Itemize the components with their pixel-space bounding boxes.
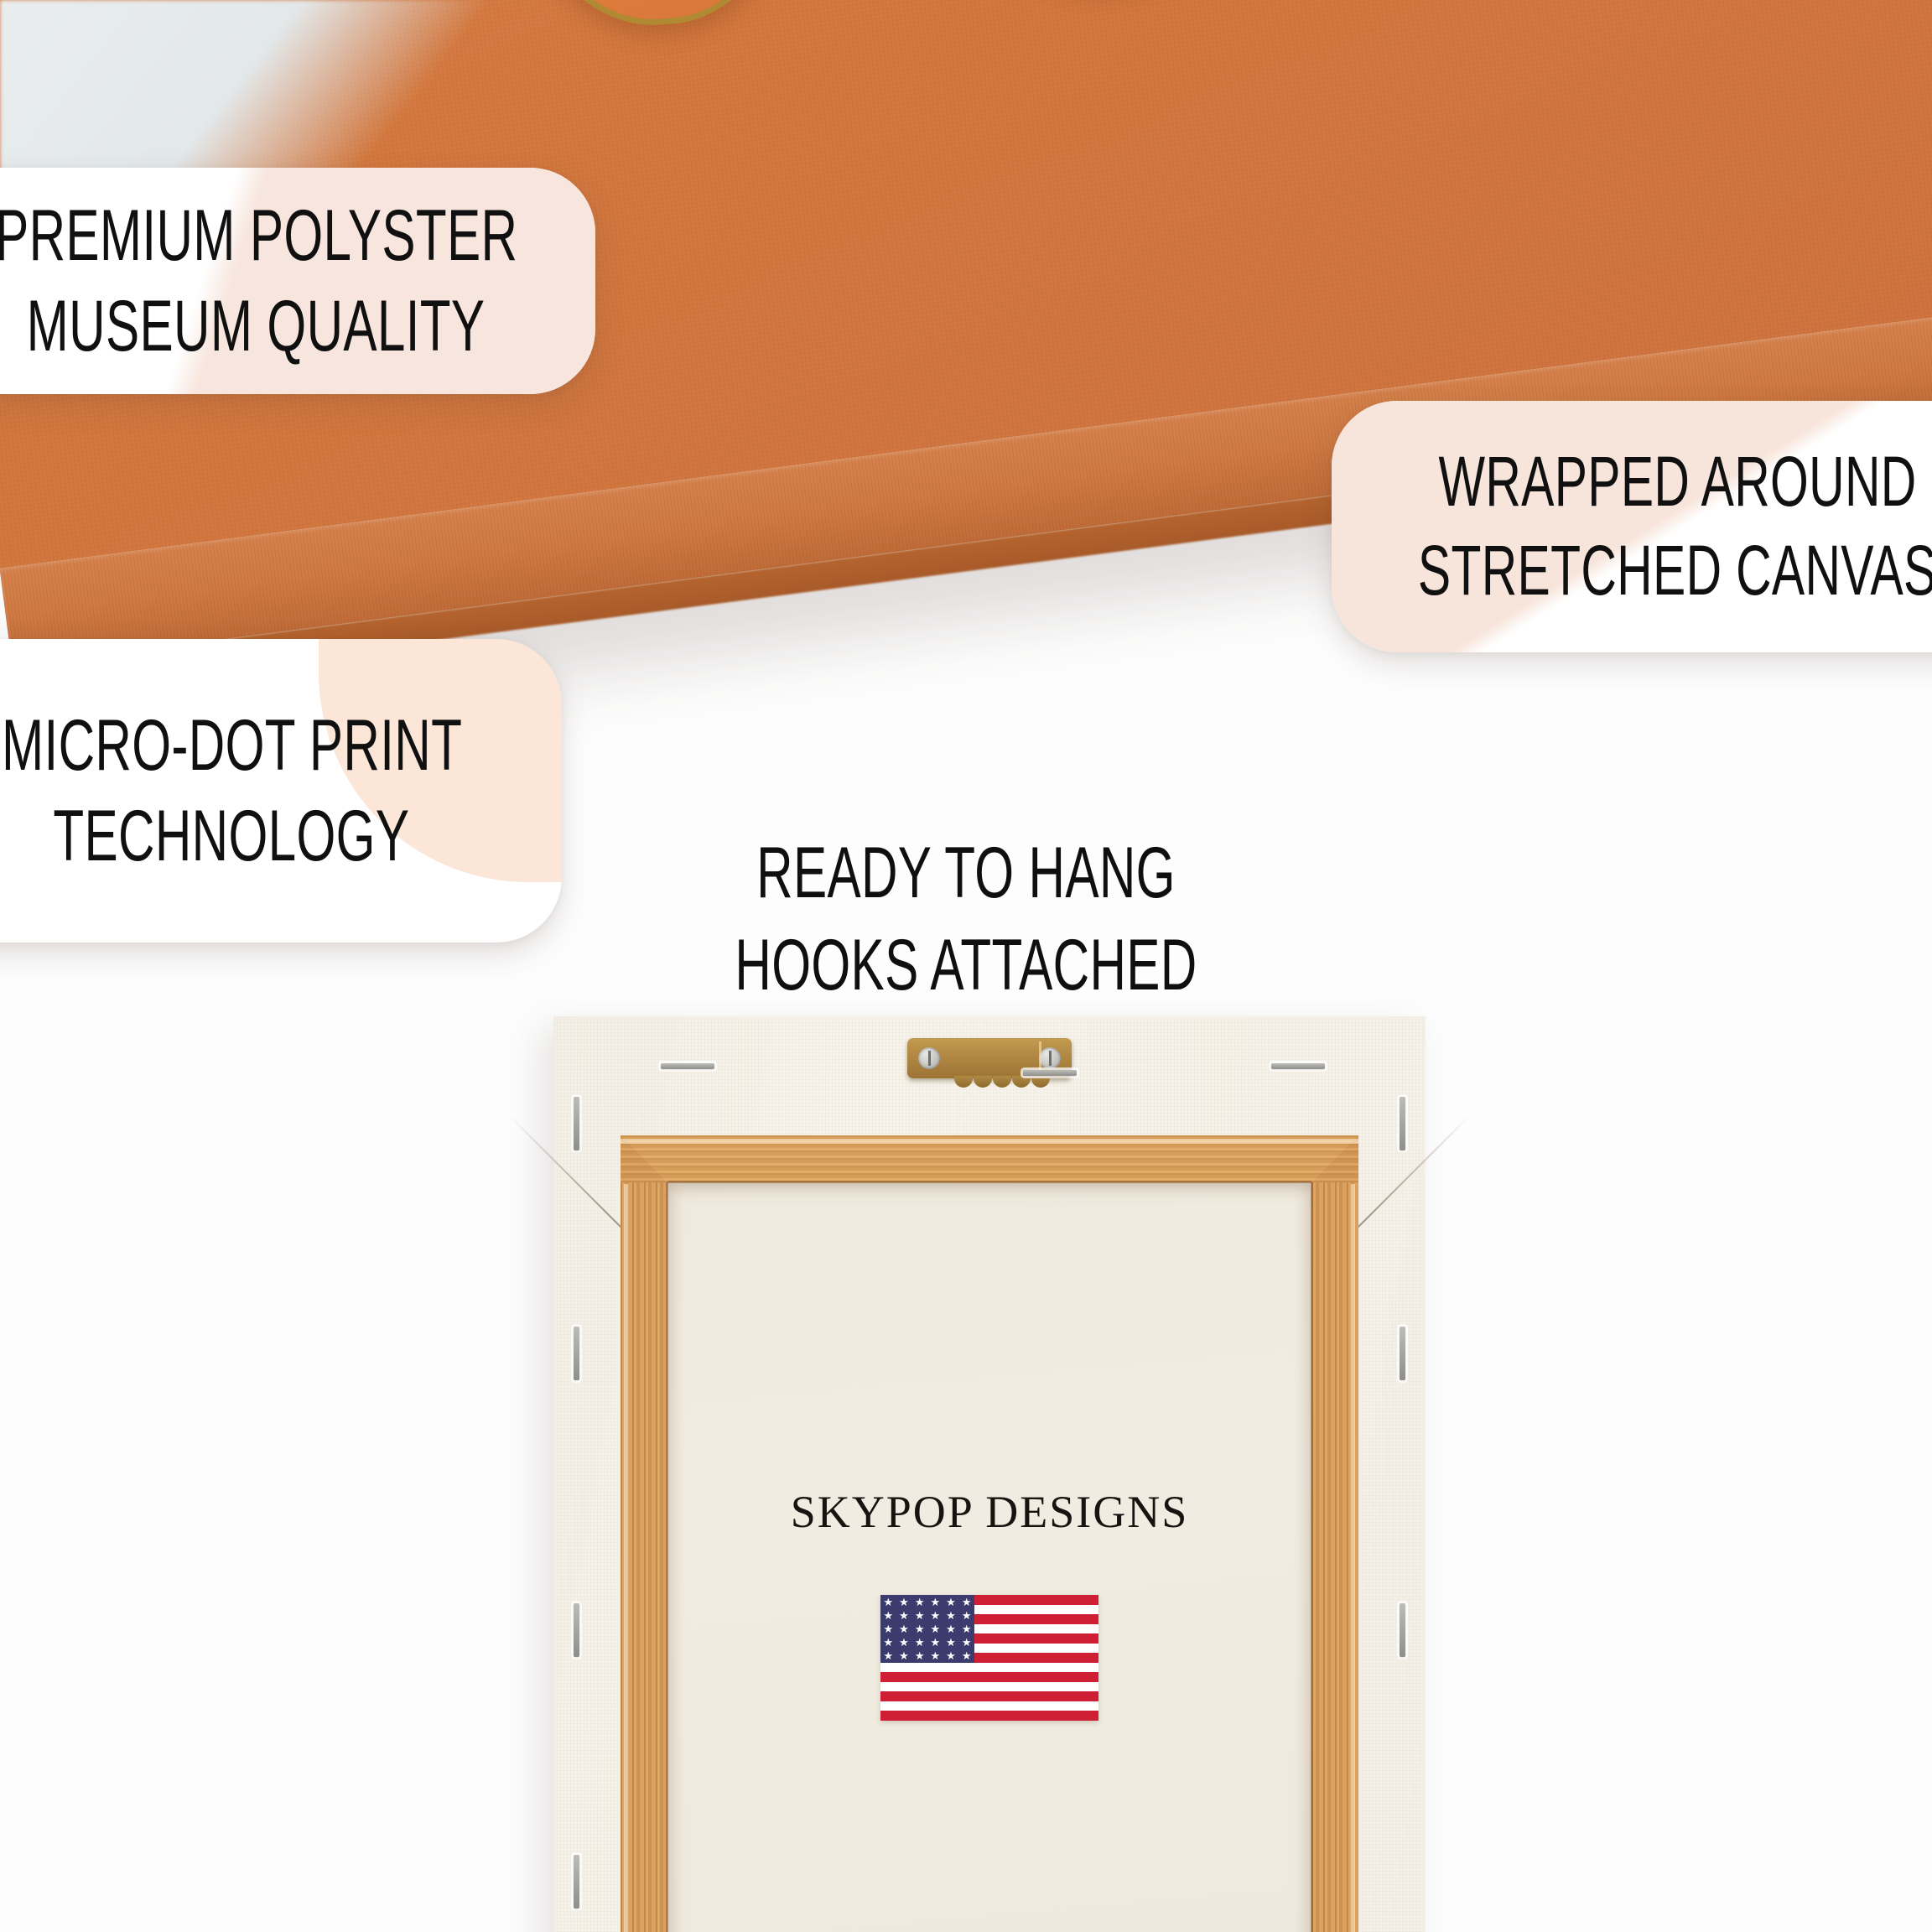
hanger-tooth-row [954, 1076, 1050, 1088]
flag-star: ★ [930, 1610, 940, 1621]
flag-star: ★ [884, 1610, 894, 1621]
flag-star: ★ [962, 1623, 972, 1634]
staple [574, 1327, 579, 1380]
badge-wrapped-line2: STRETCHED CANVAS [1418, 527, 1932, 615]
frame-inner-edge [666, 1182, 668, 1932]
flag-stripe [880, 1691, 1098, 1701]
flag-star: ★ [915, 1650, 925, 1661]
staple [574, 1097, 579, 1150]
flag-stripe [880, 1672, 1098, 1682]
flag-star: ★ [946, 1610, 956, 1621]
canvas-back-photo: SKYPOP DESIGNS ★★★★★★★★★★★★★★★★★★★★★★★★★… [553, 1016, 1426, 1932]
hanger-tooth [1012, 1076, 1031, 1088]
badge-microdot-line1: MICRO-DOT PRINT [0, 700, 462, 791]
badge-premium-line2: MUSEUM QUALITY [9, 281, 486, 371]
flag-star: ★ [899, 1650, 909, 1661]
flag-star: ★ [915, 1637, 925, 1648]
frame-highlight [621, 1139, 1358, 1144]
flag-star: ★ [884, 1650, 894, 1661]
badge-premium-polyster: PREMIUM POLYSTER MUSEUM QUALITY [0, 168, 595, 394]
badge-premium-line1: PREMIUM POLYSTER [0, 190, 517, 281]
hanger-tooth [993, 1076, 1011, 1088]
usa-flag: ★★★★★★★★★★★★★★★★★★★★★★★★★★★★★★ [880, 1595, 1098, 1721]
flag-stripe [880, 1711, 1098, 1721]
flag-star: ★ [946, 1650, 956, 1661]
flag-canton: ★★★★★★★★★★★★★★★★★★★★★★★★★★★★★★ [880, 1595, 974, 1663]
flag-star: ★ [946, 1637, 956, 1648]
staple [1400, 1603, 1405, 1657]
badge-wrapped-line1: WRAPPED AROUND [1438, 438, 1929, 527]
flag-star: ★ [915, 1610, 925, 1621]
flag-star: ★ [884, 1637, 894, 1648]
staple [1271, 1063, 1325, 1069]
hanger-tooth [974, 1076, 992, 1088]
staple [661, 1063, 714, 1069]
flag-star: ★ [930, 1597, 940, 1607]
hanger-screw [918, 1047, 940, 1069]
flag-star: ★ [899, 1637, 909, 1648]
caption-line2: HOOKS ATTACHED [290, 919, 1643, 1011]
flag-star: ★ [884, 1597, 894, 1607]
hanger-tooth [954, 1076, 973, 1088]
flag-stripe [880, 1701, 1098, 1711]
hanger-screw [1039, 1047, 1061, 1069]
flag-star: ★ [884, 1623, 894, 1634]
badge-wrapped-around: WRAPPED AROUND STRETCHED CANVAS [1332, 401, 1932, 652]
hanger-tooth [1031, 1076, 1050, 1088]
caption-line1: READY TO HANG [290, 827, 1643, 919]
frame-highlight [1351, 1184, 1355, 1932]
staple [574, 1603, 579, 1657]
staple [1023, 1070, 1077, 1076]
frame-inner-edge [667, 1181, 1311, 1183]
flag-star: ★ [899, 1597, 909, 1607]
staple [1400, 1327, 1405, 1380]
flag-star: ★ [915, 1623, 925, 1634]
frame-highlight [624, 1184, 628, 1932]
brand-name: SKYPOP DESIGNS [553, 1486, 1426, 1538]
flag-star: ★ [930, 1637, 940, 1648]
flag-star: ★ [930, 1650, 940, 1661]
flag-stripe [880, 1682, 1098, 1692]
frame-inner-edge [1311, 1182, 1313, 1932]
flag-star: ★ [946, 1597, 956, 1607]
flag-star: ★ [899, 1623, 909, 1634]
flag-star: ★ [930, 1623, 940, 1634]
flag-stripe [880, 1663, 1098, 1673]
flag-star: ★ [946, 1623, 956, 1634]
staple [574, 1855, 579, 1909]
flag-star: ★ [962, 1650, 972, 1661]
product-infographic: PREMIUM POLYSTER MUSEUM QUALITY WRAPPED … [0, 0, 1932, 1932]
flag-star: ★ [962, 1637, 972, 1648]
petal-shape [770, 0, 1321, 18]
flag-star: ★ [899, 1610, 909, 1621]
staple [1400, 1097, 1405, 1150]
flag-star: ★ [962, 1597, 972, 1607]
flag-star: ★ [962, 1610, 972, 1621]
badge-microdot-line2: TECHNOLOGY [43, 791, 410, 881]
flag-star: ★ [915, 1597, 925, 1607]
